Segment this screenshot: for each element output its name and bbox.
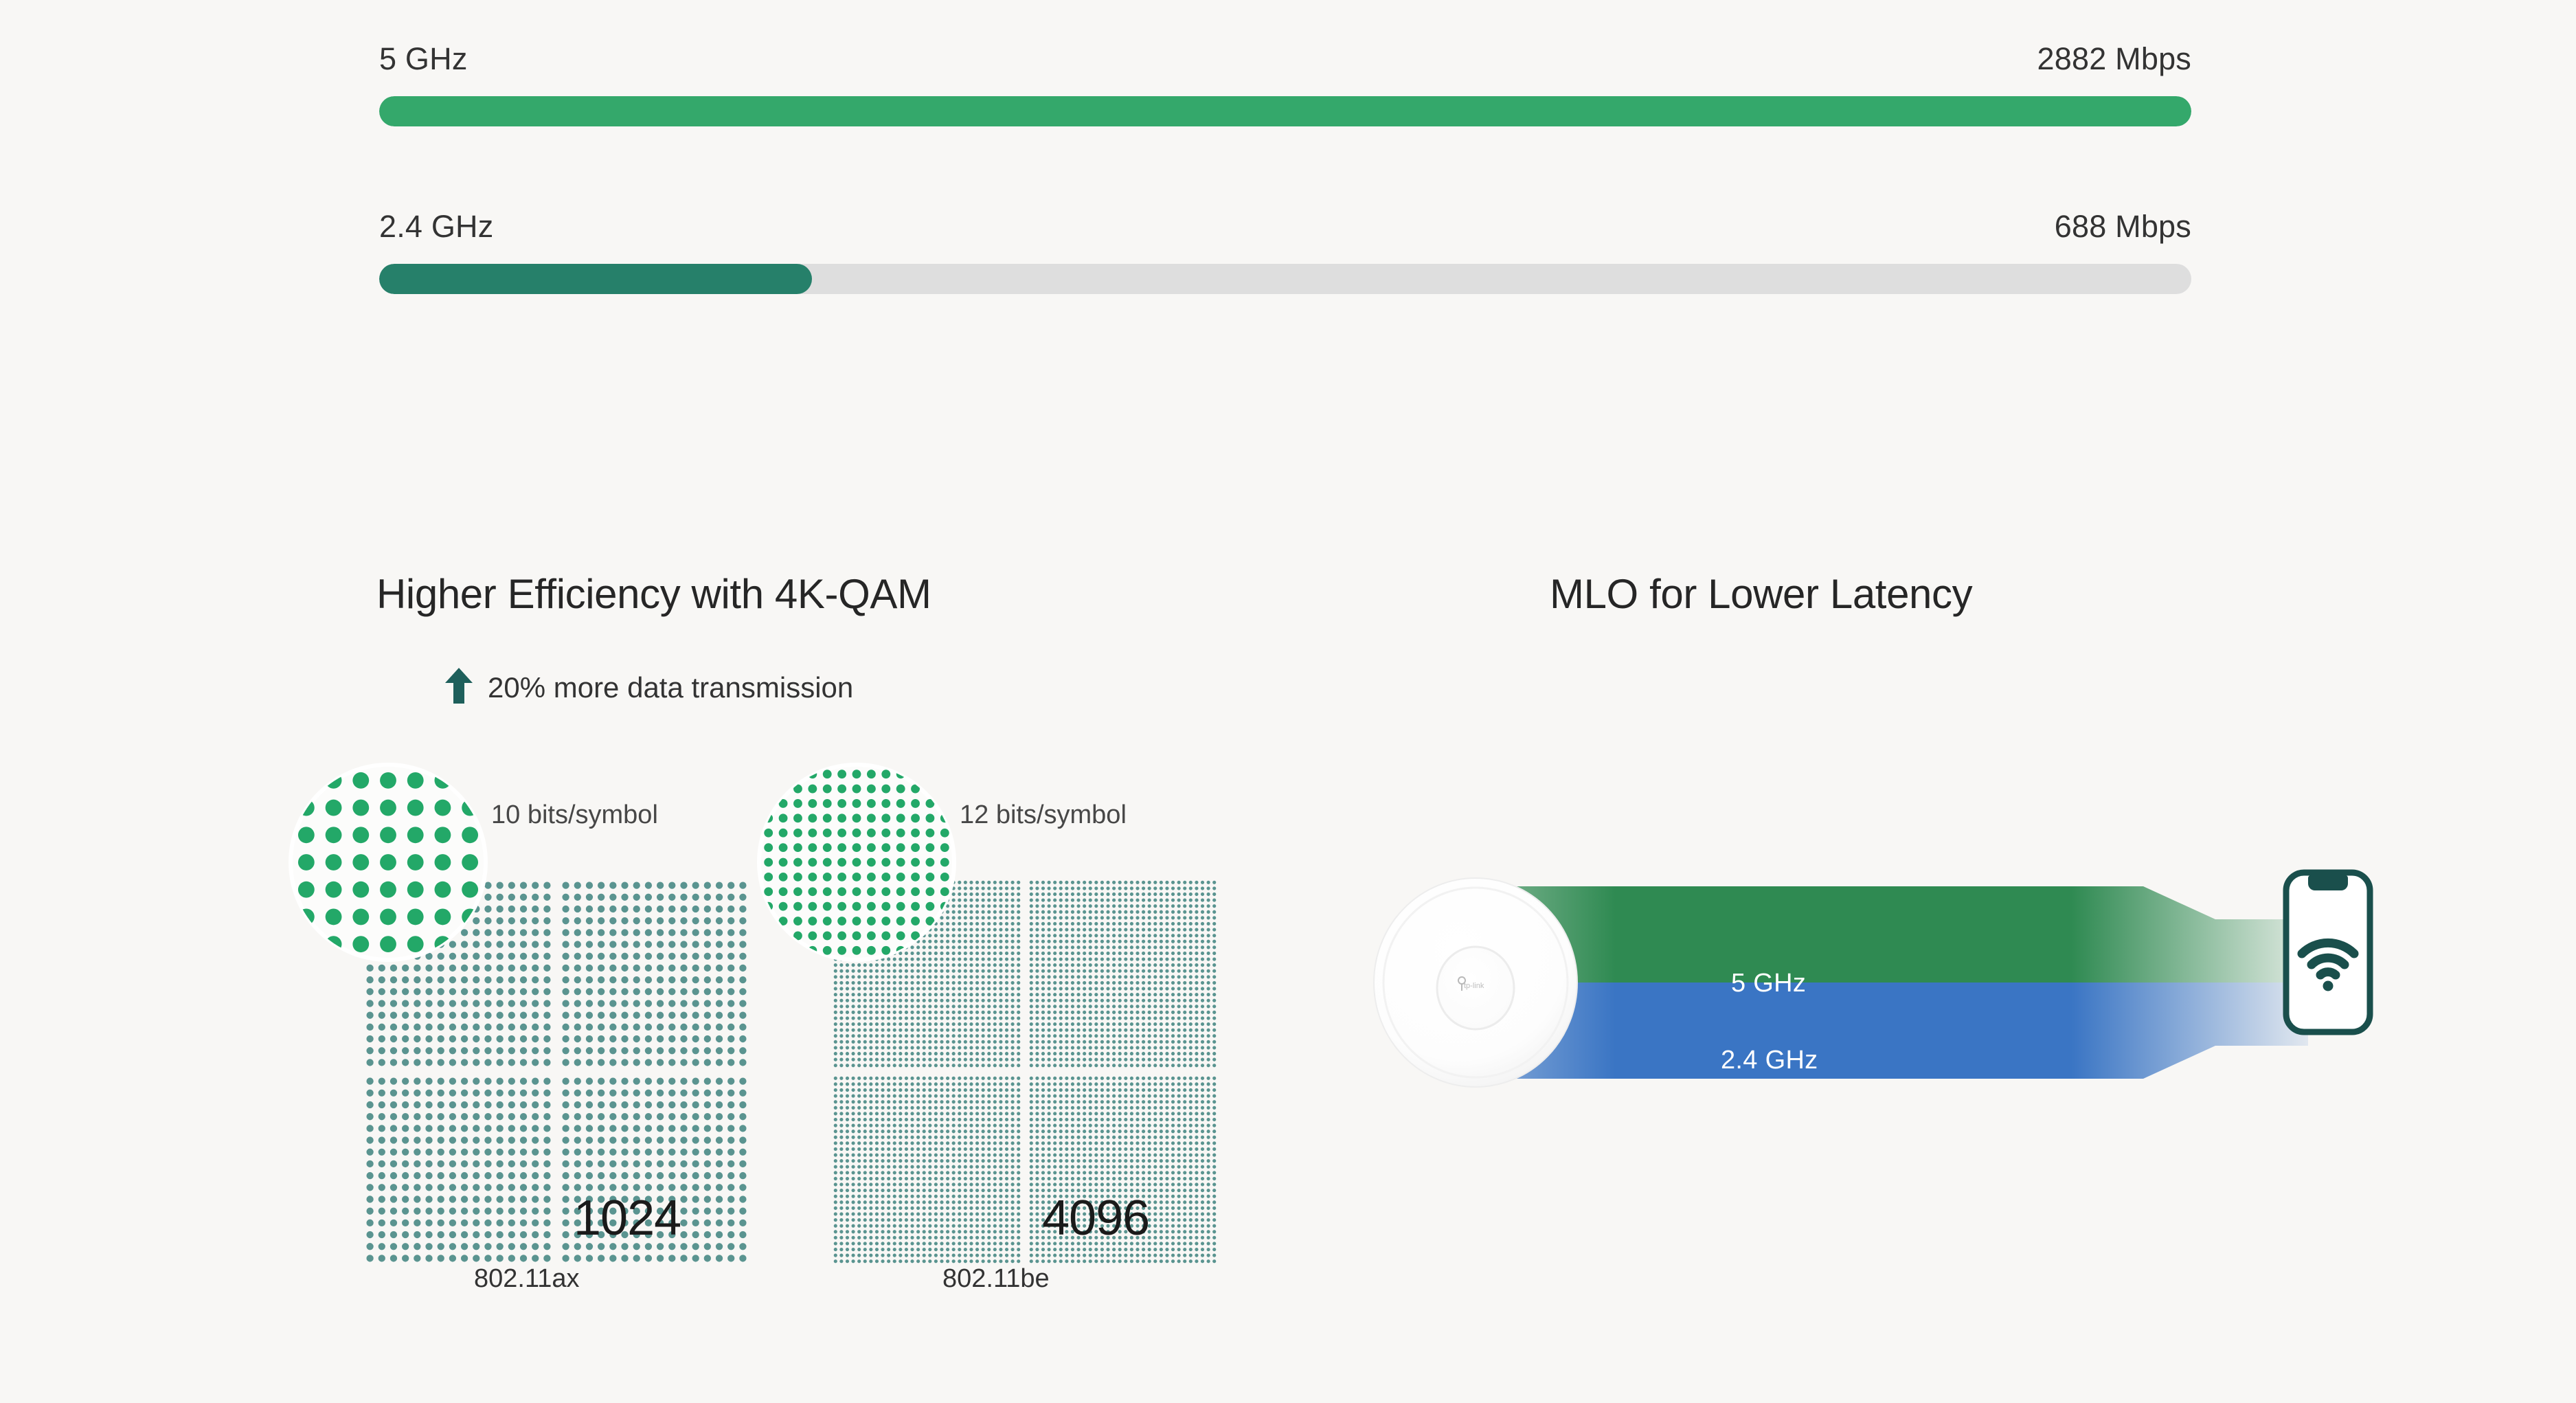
arrow-up-icon [445, 668, 473, 707]
smartphone-icon [2286, 873, 2370, 1032]
band-label-5ghz: 5 GHz [379, 41, 468, 77]
band-track-5ghz [379, 96, 2191, 126]
band-fill-5ghz [379, 96, 2191, 126]
band-row-5ghz: 5 GHz 2882 Mbps [379, 41, 2191, 126]
qam-caption-4096: 12 bits/symbol [960, 800, 1127, 830]
band-header: 5 GHz 2882 Mbps [379, 41, 2191, 77]
band-row-24ghz: 2.4 GHz 688 Mbps [379, 209, 2191, 294]
qam-standard-4096: 802.11be [942, 1264, 1050, 1294]
band-fill-24ghz [379, 264, 812, 294]
band-value-5ghz: 2882 Mbps [2037, 41, 2191, 77]
qam-caption-1024: 10 bits/symbol [491, 800, 658, 830]
band-header: 2.4 GHz 688 Mbps [379, 209, 2191, 245]
magnifier-1024 [289, 763, 488, 965]
qam-section-title: Higher Efficiency with 4K-QAM [376, 570, 931, 618]
mlo-link-24ghz [1463, 983, 2308, 1079]
band-label-24ghz: 2.4 GHz [379, 209, 493, 245]
bandwidth-bars: 5 GHz 2882 Mbps 2.4 GHz 688 Mbps [379, 41, 2191, 377]
qam-note: 20% more data transmission [445, 668, 853, 707]
mlo-section-title: MLO for Lower Latency [1550, 570, 1972, 618]
qam-value-1024: 1024 [574, 1190, 681, 1246]
band-track-24ghz [379, 264, 2191, 294]
mlo-link-5ghz [1463, 886, 2308, 983]
band-value-24ghz: 688 Mbps [2055, 209, 2191, 245]
magnifier-4096 [757, 763, 956, 965]
mlo-link-label-24ghz: 2.4 GHz [1721, 1046, 1818, 1075]
qam-standard-1024: 802.11ax [474, 1264, 580, 1294]
qam-note-text: 20% more data transmission [488, 671, 853, 704]
mlo-diagram: tp-link 5 GHz 2.4 GHz [1360, 845, 2377, 1147]
qam-value-4096: 4096 [1042, 1190, 1149, 1246]
svg-text:tp-link: tp-link [1464, 982, 1484, 990]
access-point-icon: tp-link [1374, 878, 1577, 1087]
mlo-link-label-5ghz: 5 GHz [1731, 969, 1806, 998]
